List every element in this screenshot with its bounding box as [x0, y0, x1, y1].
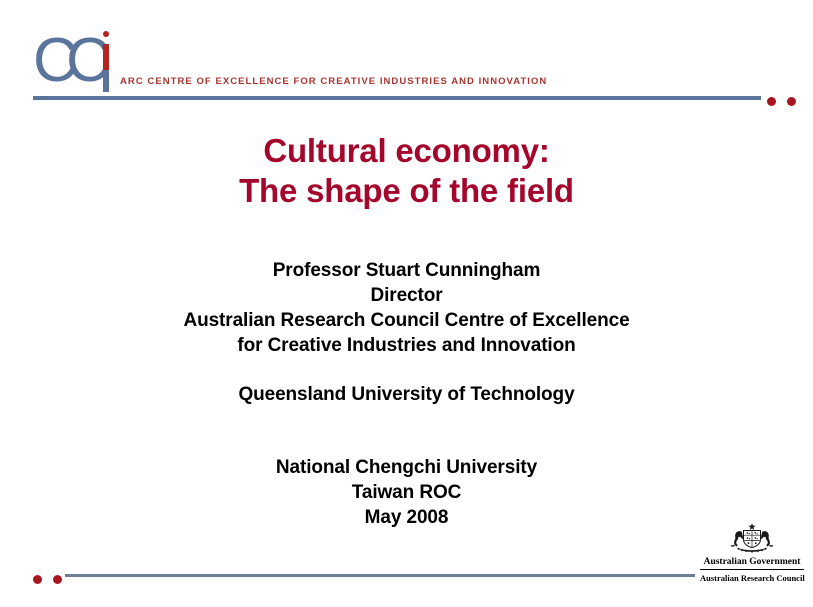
- slide-title: Cultural economy: The shape of the field: [0, 131, 813, 211]
- slide-header: C C ARC CENTRE OF EXCELLENCE FOR CREATIV…: [0, 0, 813, 110]
- institution-name: Queensland University of Technology: [0, 382, 813, 407]
- venue-location: Taiwan ROC: [0, 480, 813, 505]
- commonwealth-coat-of-arms-icon: [700, 522, 804, 556]
- footer-dot-icon-2: [53, 575, 62, 584]
- presentation-date: May 2008: [0, 505, 813, 530]
- presenter-role: Director: [0, 283, 813, 308]
- footer-dot-group: [33, 571, 62, 589]
- logo-letter-i-dot-icon: [103, 31, 109, 37]
- crest-agency-label: Australian Research Council: [700, 570, 804, 584]
- title-line-1: Cultural economy:: [0, 131, 813, 171]
- australian-government-crest: Australian Government Australian Researc…: [700, 522, 804, 584]
- header-dot-icon-1: [767, 97, 776, 106]
- presenter-name: Professor Stuart Cunningham: [0, 258, 813, 283]
- header-dot-icon-2: [787, 97, 796, 106]
- cci-logo-mark: C C: [33, 28, 113, 90]
- logo-letter-i-stem-upper-icon: [103, 44, 109, 70]
- title-line-2: The shape of the field: [0, 171, 813, 211]
- body-spacer-2: [0, 407, 813, 455]
- header-dot-group: [767, 93, 796, 111]
- affiliation-line-2: for Creative Industries and Innovation: [0, 333, 813, 358]
- body-spacer-1: [0, 358, 813, 382]
- header-divider: [33, 96, 761, 100]
- slide-body: Professor Stuart Cunningham Director Aus…: [0, 258, 813, 530]
- logo-letter-i-stem-lower-icon: [103, 70, 109, 92]
- crest-government-label: Australian Government: [700, 556, 804, 570]
- logo-tagline: ARC CENTRE OF EXCELLENCE FOR CREATIVE IN…: [120, 76, 547, 87]
- venue-name: National Chengchi University: [0, 455, 813, 480]
- affiliation-line-1: Australian Research Council Centre of Ex…: [0, 308, 813, 333]
- presentation-slide: C C ARC CENTRE OF EXCELLENCE FOR CREATIV…: [0, 0, 813, 607]
- footer-divider: [65, 574, 695, 577]
- footer-dot-icon-1: [33, 575, 42, 584]
